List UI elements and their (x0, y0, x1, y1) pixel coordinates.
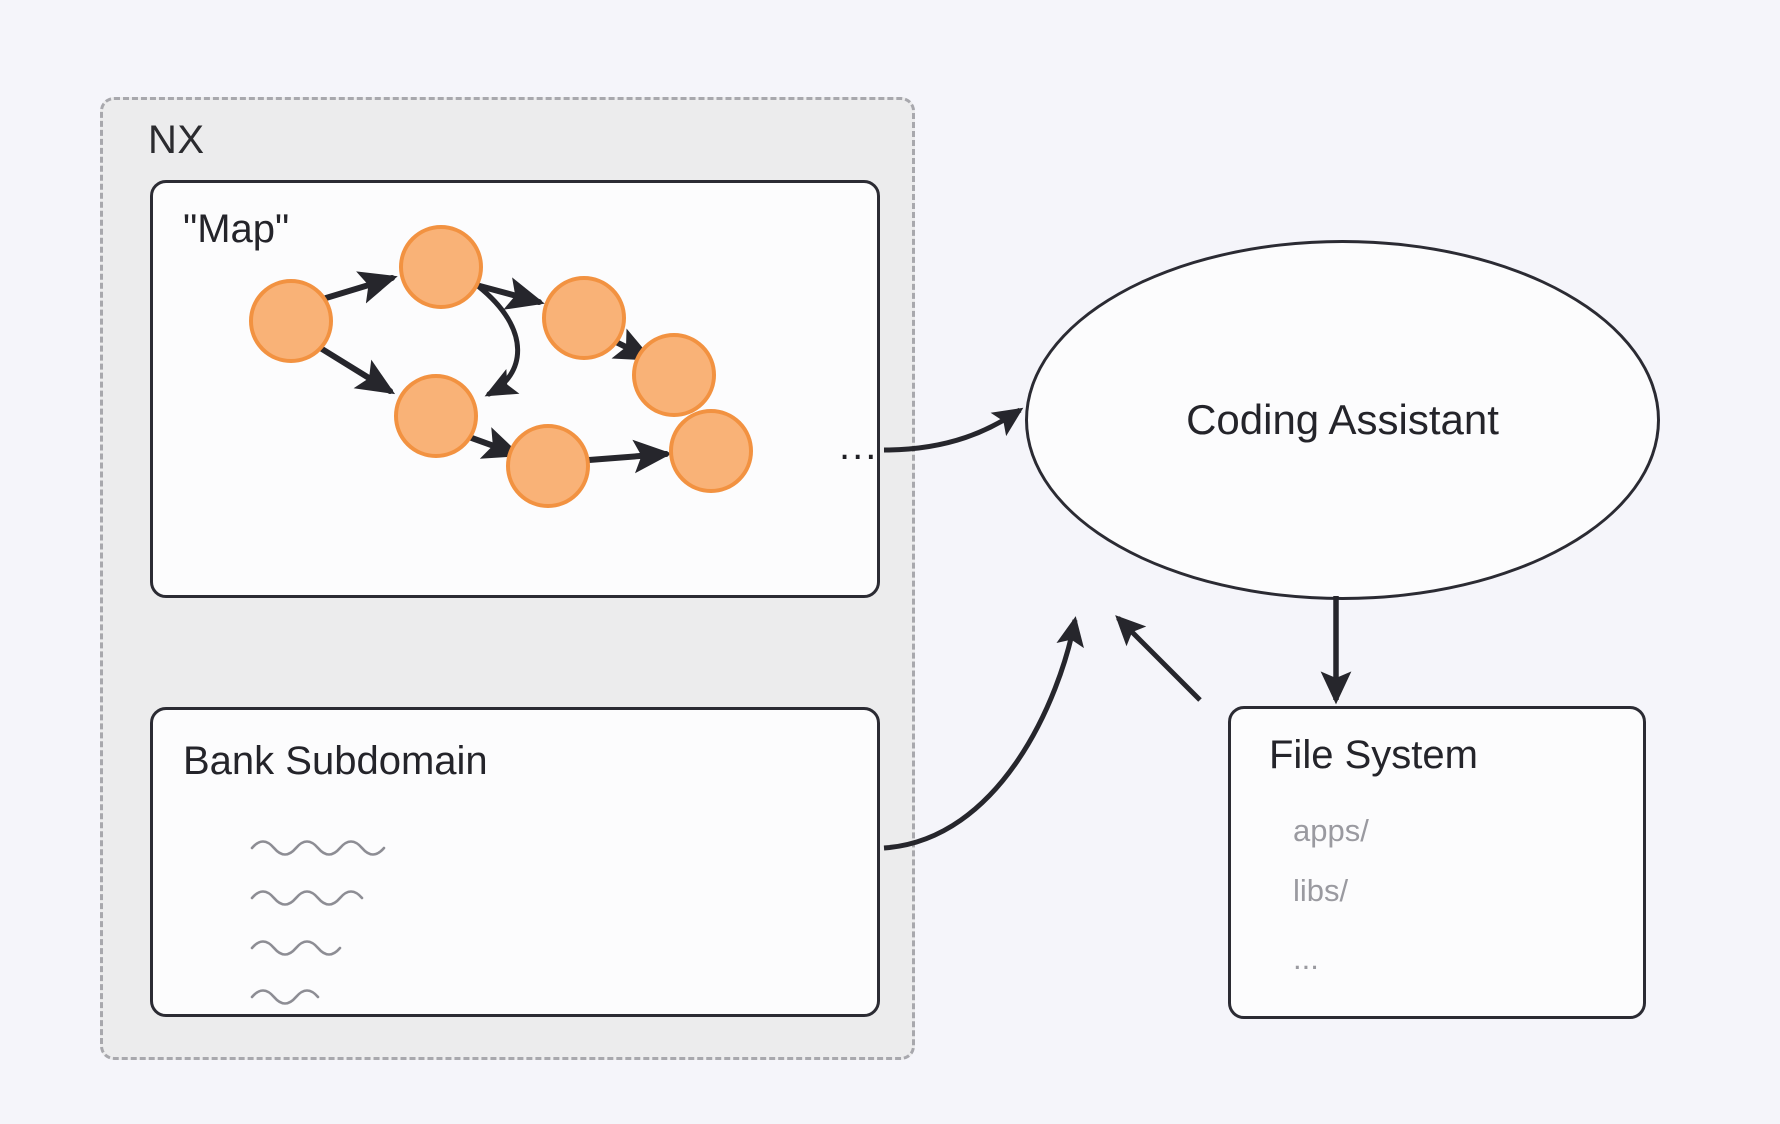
bank-subdomain-title: Bank Subdomain (183, 739, 488, 784)
file-system-item-more: ... (1293, 941, 1319, 977)
file-system-item-libs: libs/ (1293, 873, 1348, 909)
map-card-title: "Map" (183, 207, 289, 252)
connector-filesystem-to-assistant (1118, 618, 1200, 700)
coding-assistant-label: Coding Assistant (1186, 396, 1499, 444)
file-system-item-apps: apps/ (1293, 813, 1369, 849)
file-system-title: File System (1269, 733, 1478, 778)
nx-group-label: NX (148, 118, 205, 163)
bank-subdomain-card[interactable]: Bank Subdomain (150, 707, 880, 1017)
coding-assistant-node[interactable]: Coding Assistant (1025, 240, 1660, 600)
map-graph-ellipsis: ... (839, 426, 878, 466)
file-system-card[interactable]: File System apps/ libs/ ... (1228, 706, 1646, 1019)
diagram-canvas: NX "Map" Bank Subdomain Coding Assistant… (0, 0, 1780, 1124)
map-card[interactable]: "Map" (150, 180, 880, 598)
